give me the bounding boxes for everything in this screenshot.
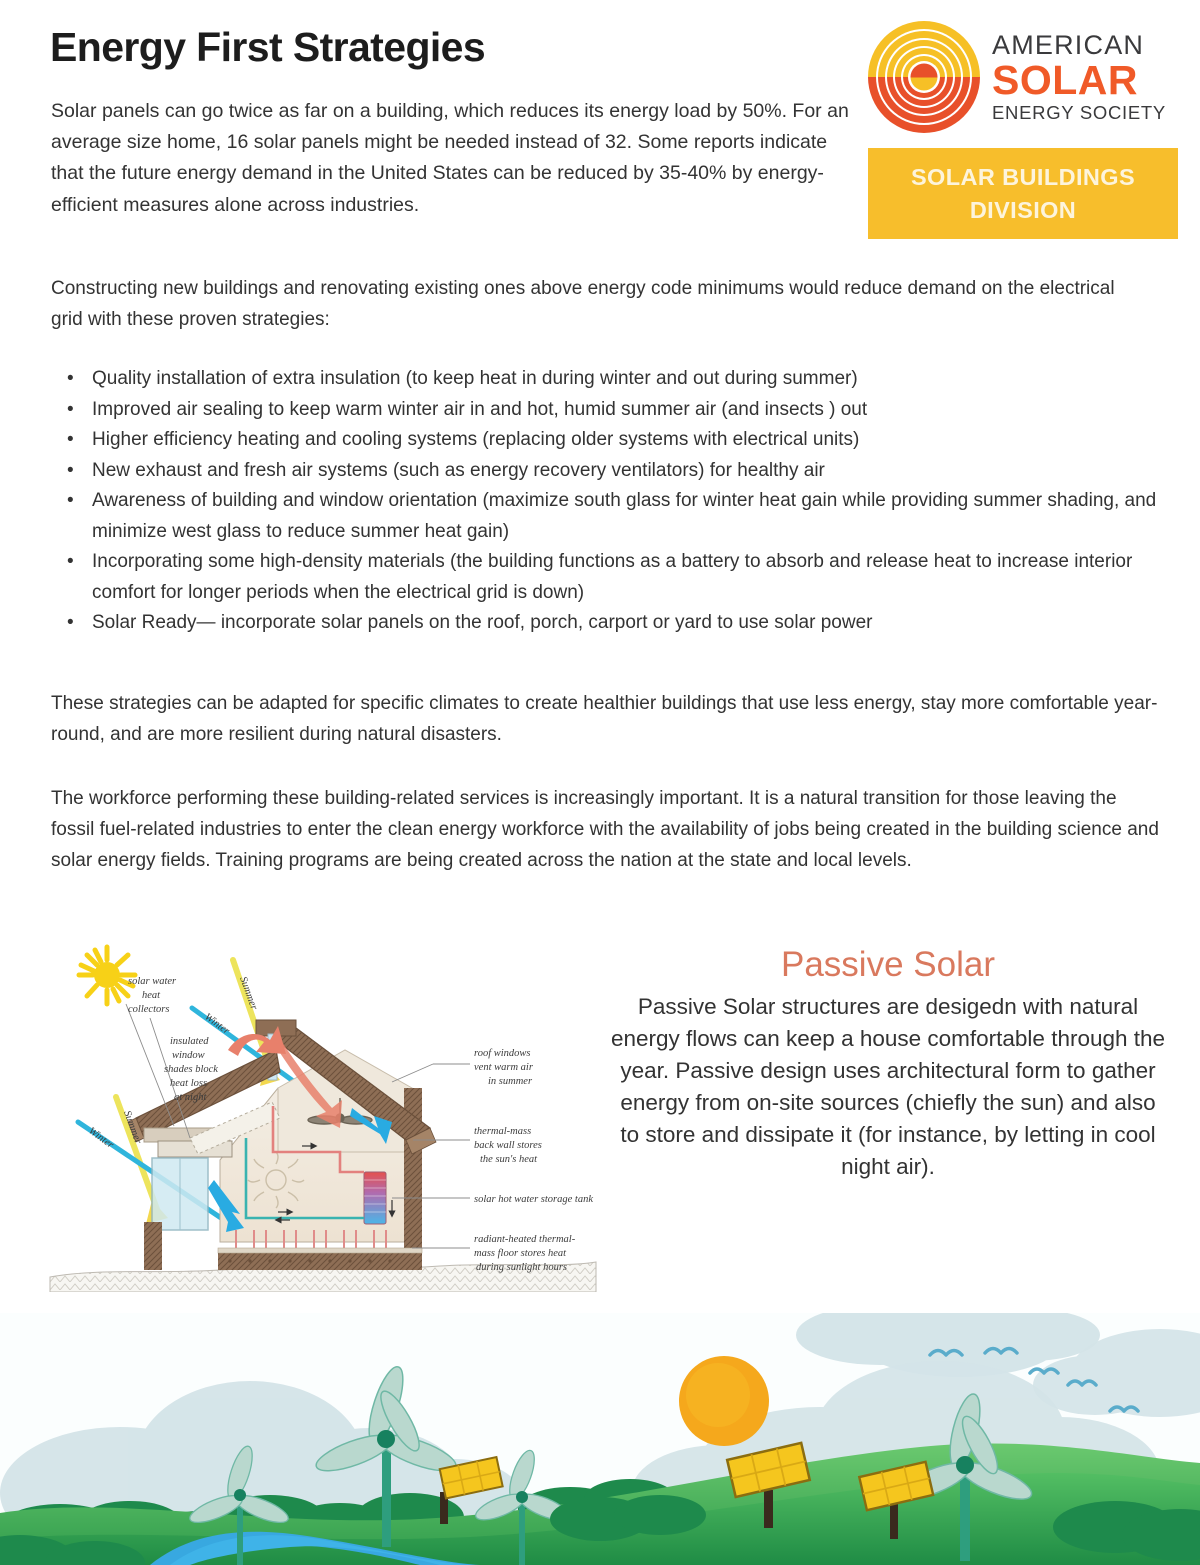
label-radiant-l3: during sunlight hours <box>476 1262 567 1273</box>
label-thermal-mass-l1: thermal-mass <box>474 1126 531 1137</box>
passive-solar-heading: Passive Solar <box>608 943 1168 987</box>
renewable-energy-landscape-illustration <box>0 1313 1200 1565</box>
label-shades-l3: shades block <box>164 1064 218 1075</box>
label-solar-collectors-l1: solar water <box>128 976 177 987</box>
label-radiant-l2: mass floor stores heat <box>474 1248 567 1259</box>
asec-logo-block: AMERICAN SOLAR ENERGY SOCIETY SOLAR BUIL… <box>868 12 1178 239</box>
list-item: New exhaust and fresh air systems (such … <box>51 456 1166 487</box>
list-item: Higher efficiency heating and cooling sy… <box>51 425 1166 456</box>
label-solar-collectors-l3: collectors <box>128 1004 169 1015</box>
list-item: Quality installation of extra insulation… <box>51 364 1166 395</box>
sun-logo-icon <box>868 21 980 133</box>
logo-wordmark: AMERICAN SOLAR ENERGY SOCIETY <box>992 32 1166 123</box>
logo-lockup: AMERICAN SOLAR ENERGY SOCIETY <box>868 12 1178 142</box>
logo-line-solar: SOLAR <box>992 60 1166 101</box>
passive-solar-body: Passive Solar structures are desigedn wi… <box>608 991 1168 1183</box>
list-item: Awareness of building and window orienta… <box>51 486 1166 547</box>
label-roof-windows-l2: vent warm air <box>474 1062 534 1073</box>
page-title: Energy First Strategies <box>50 24 485 71</box>
label-solar-collectors-l2: heat <box>142 990 161 1001</box>
label-roof-windows-l1: roof windows <box>474 1048 531 1059</box>
logo-line-american: AMERICAN <box>992 32 1166 59</box>
list-item: Solar Ready— incorporate solar panels on… <box>51 608 1166 639</box>
document-header: Energy First Strategies Solar panels can… <box>0 0 1200 265</box>
label-thermal-mass-l2: back wall stores <box>474 1140 542 1151</box>
label-radiant-l1: radiant-heated thermal- <box>474 1234 576 1245</box>
division-banner-line2: DIVISION <box>970 194 1076 227</box>
list-item: Improved air sealing to keep warm winter… <box>51 395 1166 426</box>
passive-solar-house-diagram: solar water heat collectors insulated wi… <box>40 922 600 1292</box>
document-page: Energy First Strategies Solar panels can… <box>0 0 1200 1565</box>
lead-paragraph: Constructing new buildings and renovatin… <box>51 273 1151 335</box>
label-storage-tank: solar hot water storage tank <box>474 1194 593 1205</box>
label-shades-l5: at night <box>174 1092 207 1103</box>
paragraph-workforce: The workforce performing these building-… <box>51 783 1161 876</box>
list-item: Incorporating some high-density material… <box>51 547 1166 608</box>
label-shades-l1: insulated <box>170 1036 209 1047</box>
label-thermal-mass-l3: the sun's heat <box>480 1154 538 1165</box>
paragraph-adapt: These strategies can be adapted for spec… <box>51 688 1171 750</box>
sun-icon <box>79 947 135 1004</box>
label-shades-l2: window <box>172 1050 205 1061</box>
division-banner-line1: SOLAR BUILDINGS <box>911 161 1135 194</box>
division-banner: SOLAR BUILDINGS DIVISION <box>868 148 1178 239</box>
label-roof-windows-l3: in summer <box>488 1076 533 1087</box>
strategies-list: Quality installation of extra insulation… <box>51 364 1166 639</box>
passive-solar-panel: Passive Solar Passive Solar structures a… <box>608 943 1168 1183</box>
label-shades-l4: heat loss <box>170 1078 207 1089</box>
logo-line-energy-society: ENERGY SOCIETY <box>992 104 1166 123</box>
intro-paragraph: Solar panels can go twice as far on a bu… <box>51 96 851 221</box>
